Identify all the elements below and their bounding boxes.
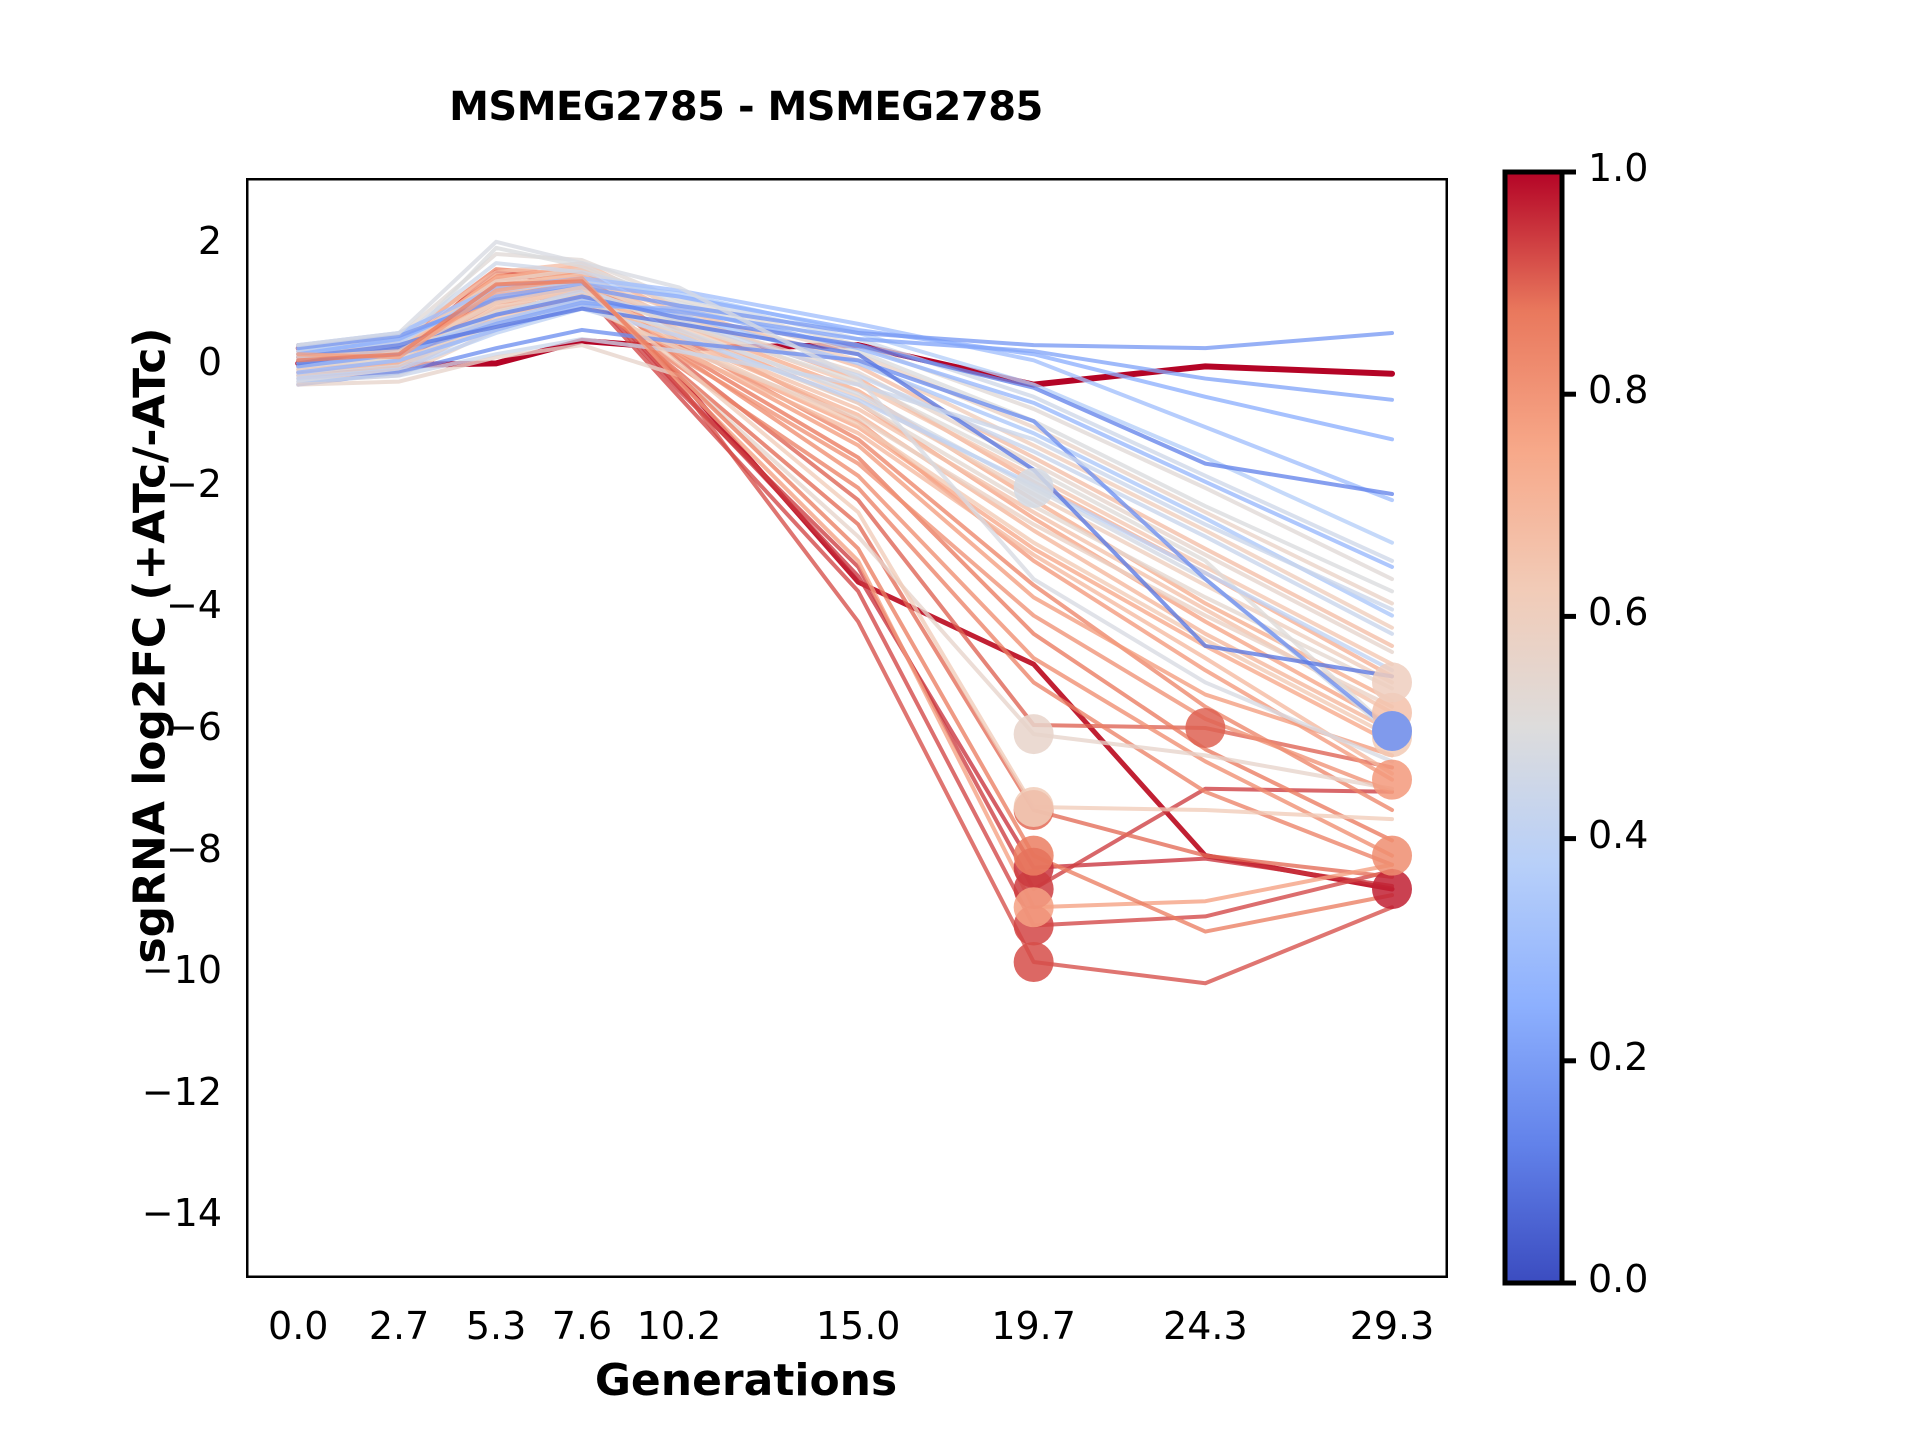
colorbar-svg	[1490, 150, 1790, 1350]
x-axis-label: Generations	[246, 1355, 1246, 1406]
y-tick-label: −8	[0, 827, 222, 871]
colorbar-tick-label: 0.6	[1588, 590, 1648, 634]
x-tick-label: 29.3	[1322, 1304, 1462, 1348]
data-point-marker	[1014, 468, 1054, 508]
data-point-marker	[1014, 836, 1054, 876]
colorbar-tick-label: 0.8	[1588, 368, 1648, 412]
y-tick-label: −6	[0, 705, 222, 749]
colorbar-gradient	[1505, 172, 1562, 1283]
y-tick-label: −14	[0, 1191, 222, 1235]
y-tick-label: 0	[0, 340, 222, 384]
data-point-marker	[1014, 887, 1054, 927]
x-tick-label: 15.0	[788, 1304, 928, 1348]
data-point-marker	[1014, 942, 1054, 982]
y-tick-label: −4	[0, 583, 222, 627]
data-point-marker	[1014, 714, 1054, 754]
y-tick-label: −2	[0, 462, 222, 506]
y-tick-label: −12	[0, 1070, 222, 1114]
x-tick-label: 24.3	[1135, 1304, 1275, 1348]
x-tick-label: 19.7	[964, 1304, 1104, 1348]
page-title: MSMEG2785 - MSMEG2785	[246, 84, 1246, 130]
y-tick-label: 2	[0, 219, 222, 263]
data-point-marker	[1014, 787, 1054, 827]
colorbar-tick-label: 1.0	[1588, 146, 1648, 190]
series-layer	[298, 242, 1392, 983]
colorbar-tick-label: 0.4	[1588, 813, 1648, 857]
plot-area	[246, 178, 1448, 1278]
data-point-marker	[1372, 836, 1412, 876]
line-chart-svg	[246, 178, 1448, 1278]
y-tick-label: −10	[0, 948, 222, 992]
data-point-marker	[1372, 662, 1412, 702]
figure-canvas: MSMEG2785 - MSMEG2785 sgRNA log2FC (+ATc…	[0, 0, 1920, 1440]
x-tick-label: 10.2	[609, 1304, 749, 1348]
data-point-marker	[1372, 711, 1412, 751]
data-point-marker	[1372, 760, 1412, 800]
colorbar-tick-label: 0.0	[1588, 1257, 1648, 1301]
data-point-marker	[1185, 708, 1225, 748]
colorbar-tick-label: 0.2	[1588, 1035, 1648, 1079]
